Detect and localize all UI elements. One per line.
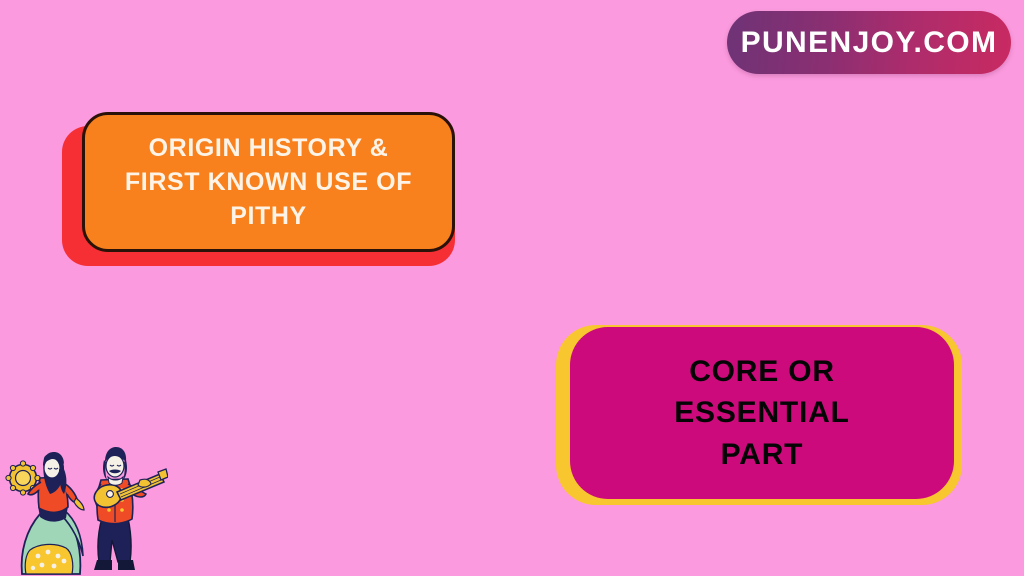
brand-watermark-badge[interactable]: PUNENJOY.COM xyxy=(727,11,1011,74)
card-origin-history-label: ORIGIN HISTORY &FIRST KNOWN USE OFPITHY xyxy=(125,131,412,233)
card-core-essential-part-label: CORE ORESSENTIALPART xyxy=(674,351,850,475)
card-origin-history-body: ORIGIN HISTORY &FIRST KNOWN USE OFPITHY xyxy=(82,112,455,252)
folk-musicians-illustration xyxy=(2,444,168,576)
skirt-floral-pattern xyxy=(25,544,73,574)
card-core-essential-part: CORE ORESSENTIALPART xyxy=(556,325,962,505)
man-with-guitar-figure xyxy=(91,447,168,570)
woman-with-tambourine-figure xyxy=(6,452,84,574)
card-origin-history: ORIGIN HISTORY &FIRST KNOWN USE OFPITHY xyxy=(62,112,455,252)
brand-watermark-label: PUNENJOY.COM xyxy=(741,26,998,60)
slide-canvas: PUNENJOY.COM ORIGIN HISTORY &FIRST KNOWN… xyxy=(0,0,1024,576)
card-core-essential-part-body: CORE ORESSENTIALPART xyxy=(570,327,954,499)
